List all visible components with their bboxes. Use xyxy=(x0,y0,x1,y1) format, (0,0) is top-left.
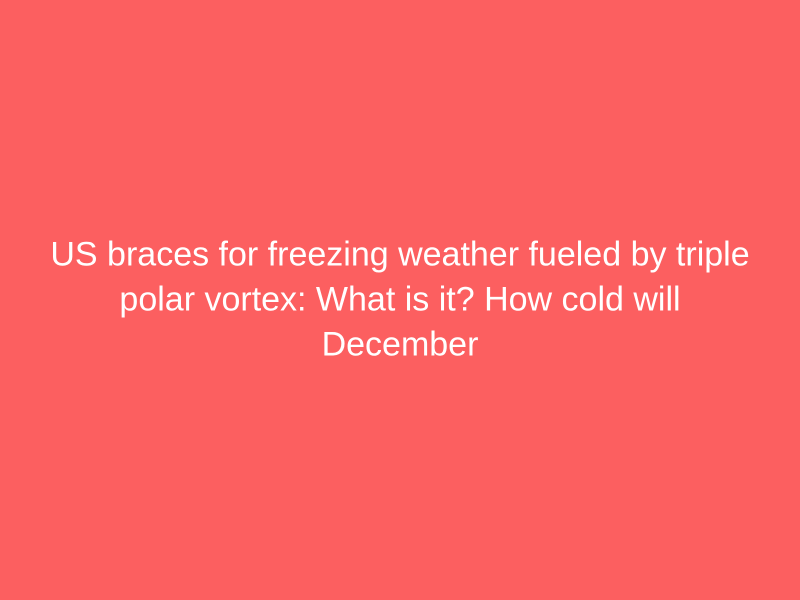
headline-text: US braces for freezing weather fueled by… xyxy=(50,232,750,367)
headline-placeholder-card: US braces for freezing weather fueled by… xyxy=(0,0,800,600)
